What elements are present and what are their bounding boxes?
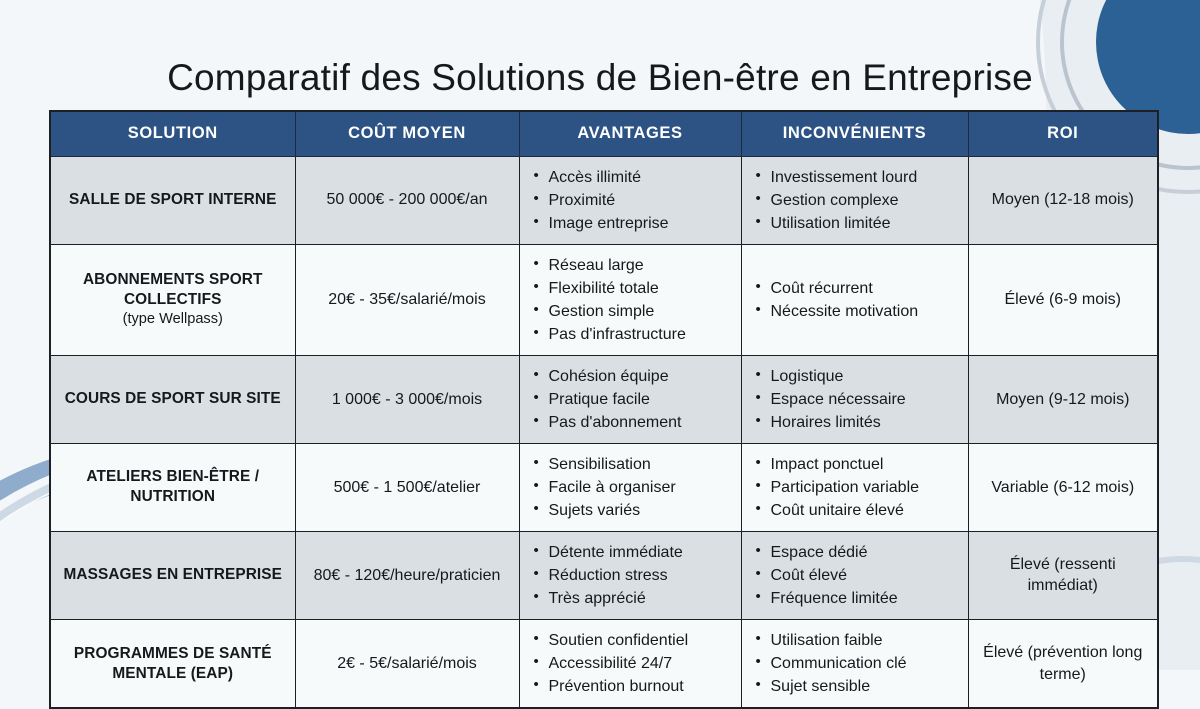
cell-solution-note: (type Wellpass) [63, 310, 283, 329]
list-item: Réseau large [532, 254, 729, 277]
list-item: Espace dédié [754, 541, 956, 564]
cell-avantages-list: SensibilisationFacile à organiserSujets … [532, 453, 729, 522]
cell-cout-moyen: 80€ - 120€/heure/praticien [295, 531, 519, 619]
column-header-solution: SOLUTION [50, 111, 295, 156]
cell-inconvenients: LogistiqueEspace nécessaireHoraires limi… [741, 355, 968, 443]
list-item: Proximité [532, 189, 729, 212]
cell-cout-moyen: 500€ - 1 500€/atelier [295, 443, 519, 531]
comparison-table-container: SOLUTION COÛT MOYEN AVANTAGES INCONVÉNIE… [49, 110, 1157, 709]
list-item: Très apprécié [532, 587, 729, 610]
list-item: Soutien confidentiel [532, 629, 729, 652]
cell-roi: Élevé (prévention long terme) [968, 620, 1158, 709]
cell-inconvenients: Investissement lourdGestion complexeUtil… [741, 156, 968, 244]
list-item: Facile à organiser [532, 476, 729, 499]
column-header-cout-moyen: COÛT MOYEN [295, 111, 519, 156]
list-item: Pratique facile [532, 388, 729, 411]
list-item: Flexibilité totale [532, 277, 729, 300]
table-row: PROGRAMMES DE SANTÉ MENTALE (EAP)2€ - 5€… [50, 620, 1158, 709]
cell-solution: PROGRAMMES DE SANTÉ MENTALE (EAP) [50, 620, 295, 709]
list-item: Fréquence limitée [754, 587, 956, 610]
list-item: Investissement lourd [754, 166, 956, 189]
table-row: MASSAGES EN ENTREPRISE80€ - 120€/heure/p… [50, 531, 1158, 619]
list-item: Prévention burnout [532, 675, 729, 698]
cell-cout-moyen: 2€ - 5€/salarié/mois [295, 620, 519, 709]
cell-inconvenients: Coût récurrentNécessite motivation [741, 244, 968, 355]
table-body: SALLE DE SPORT INTERNE50 000€ - 200 000€… [50, 156, 1158, 708]
list-item: Coût unitaire élevé [754, 499, 956, 522]
cell-inconvenients: Impact ponctuelParticipation variableCoû… [741, 443, 968, 531]
cell-inconvenients-list: Investissement lourdGestion complexeUtil… [754, 166, 956, 235]
cell-avantages-list: Détente immédiateRéduction stressTrès ap… [532, 541, 729, 610]
column-header-roi: ROI [968, 111, 1158, 156]
cell-cout-moyen: 20€ - 35€/salarié/mois [295, 244, 519, 355]
list-item: Accessibilité 24/7 [532, 652, 729, 675]
list-item: Sujet sensible [754, 675, 956, 698]
cell-inconvenients-list: Impact ponctuelParticipation variableCoû… [754, 453, 956, 522]
cell-roi: Élevé (ressenti immédiat) [968, 531, 1158, 619]
list-item: Sensibilisation [532, 453, 729, 476]
cell-avantages-list: Soutien confidentielAccessibilité 24/7Pr… [532, 629, 729, 698]
cell-avantages: Réseau largeFlexibilité totaleGestion si… [519, 244, 741, 355]
cell-solution: ABONNEMENTS SPORT COLLECTIFS(type Wellpa… [50, 244, 295, 355]
cell-inconvenients: Utilisation faibleCommunication cléSujet… [741, 620, 968, 709]
cell-inconvenients-list: Espace dédiéCoût élevéFréquence limitée [754, 541, 956, 610]
cell-avantages-list: Accès illimitéProximitéImage entreprise [532, 166, 729, 235]
list-item: Sujets variés [532, 499, 729, 522]
table-row: ATELIERS BIEN-ÊTRE / NUTRITION500€ - 1 5… [50, 443, 1158, 531]
table-header: SOLUTION COÛT MOYEN AVANTAGES INCONVÉNIE… [50, 111, 1158, 156]
list-item: Nécessite motivation [754, 300, 956, 323]
cell-roi: Moyen (9-12 mois) [968, 355, 1158, 443]
cell-avantages: Accès illimitéProximitéImage entreprise [519, 156, 741, 244]
list-item: Accès illimité [532, 166, 729, 189]
column-header-inconvenients: INCONVÉNIENTS [741, 111, 968, 156]
cell-avantages: Cohésion équipePratique facilePas d'abon… [519, 355, 741, 443]
list-item: Impact ponctuel [754, 453, 956, 476]
column-header-avantages: AVANTAGES [519, 111, 741, 156]
cell-roi: Moyen (12-18 mois) [968, 156, 1158, 244]
cell-avantages: Soutien confidentielAccessibilité 24/7Pr… [519, 620, 741, 709]
cell-solution: MASSAGES EN ENTREPRISE [50, 531, 295, 619]
list-item: Utilisation faible [754, 629, 956, 652]
cell-solution: COURS DE SPORT SUR SITE [50, 355, 295, 443]
list-item: Détente immédiate [532, 541, 729, 564]
comparison-table: SOLUTION COÛT MOYEN AVANTAGES INCONVÉNIE… [49, 110, 1159, 709]
list-item: Logistique [754, 365, 956, 388]
table-row: COURS DE SPORT SUR SITE1 000€ - 3 000€/m… [50, 355, 1158, 443]
list-item: Coût récurrent [754, 277, 956, 300]
cell-solution: ATELIERS BIEN-ÊTRE / NUTRITION [50, 443, 295, 531]
table-row: SALLE DE SPORT INTERNE50 000€ - 200 000€… [50, 156, 1158, 244]
cell-cout-moyen: 50 000€ - 200 000€/an [295, 156, 519, 244]
cell-solution: SALLE DE SPORT INTERNE [50, 156, 295, 244]
cell-avantages-list: Cohésion équipePratique facilePas d'abon… [532, 365, 729, 434]
cell-avantages-list: Réseau largeFlexibilité totaleGestion si… [532, 254, 729, 346]
table-row: ABONNEMENTS SPORT COLLECTIFS(type Wellpa… [50, 244, 1158, 355]
page-title: Comparatif des Solutions de Bien-être en… [0, 57, 1200, 99]
cell-roi: Variable (6-12 mois) [968, 443, 1158, 531]
cell-inconvenients-list: Coût récurrentNécessite motivation [754, 277, 956, 323]
cell-avantages: SensibilisationFacile à organiserSujets … [519, 443, 741, 531]
cell-inconvenients-list: LogistiqueEspace nécessaireHoraires limi… [754, 365, 956, 434]
cell-inconvenients: Espace dédiéCoût élevéFréquence limitée [741, 531, 968, 619]
list-item: Utilisation limitée [754, 212, 956, 235]
list-item: Gestion complexe [754, 189, 956, 212]
list-item: Réduction stress [532, 564, 729, 587]
list-item: Gestion simple [532, 300, 729, 323]
list-item: Communication clé [754, 652, 956, 675]
table-header-row: SOLUTION COÛT MOYEN AVANTAGES INCONVÉNIE… [50, 111, 1158, 156]
list-item: Pas d'abonnement [532, 411, 729, 434]
cell-roi: Élevé (6-9 mois) [968, 244, 1158, 355]
list-item: Pas d'infrastructure [532, 323, 729, 346]
cell-avantages: Détente immédiateRéduction stressTrès ap… [519, 531, 741, 619]
list-item: Cohésion équipe [532, 365, 729, 388]
list-item: Image entreprise [532, 212, 729, 235]
list-item: Espace nécessaire [754, 388, 956, 411]
list-item: Horaires limités [754, 411, 956, 434]
list-item: Participation variable [754, 476, 956, 499]
cell-inconvenients-list: Utilisation faibleCommunication cléSujet… [754, 629, 956, 698]
list-item: Coût élevé [754, 564, 956, 587]
cell-cout-moyen: 1 000€ - 3 000€/mois [295, 355, 519, 443]
